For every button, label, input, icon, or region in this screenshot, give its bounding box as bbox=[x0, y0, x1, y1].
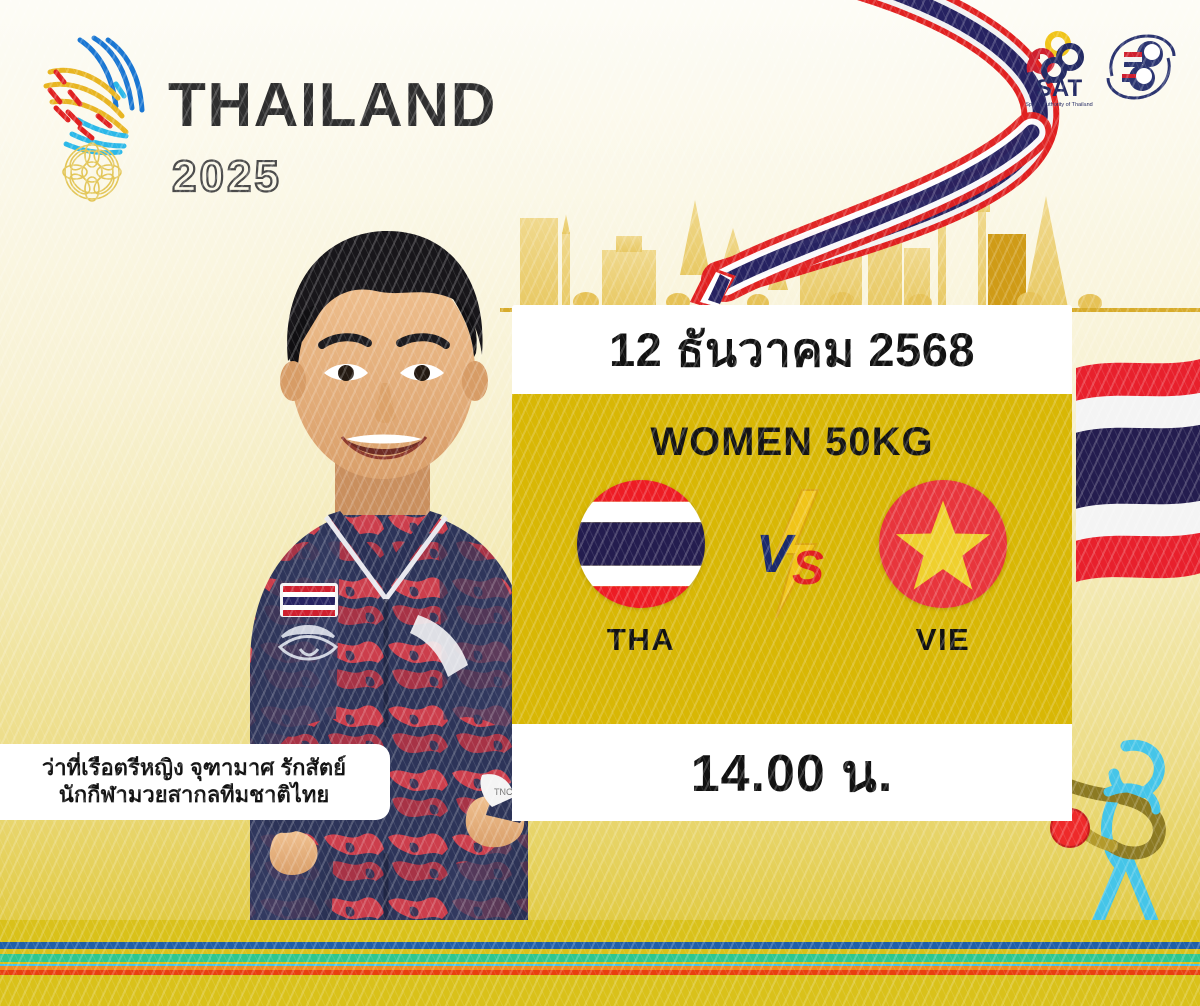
athlete-role: นักกีฬามวยสากลทีมชาติไทย bbox=[59, 782, 329, 809]
event-poster: THAILAND 2025 SAT Sports Authority of Th… bbox=[0, 0, 1200, 1006]
event-time: 14.00 น. bbox=[691, 731, 894, 814]
event-date: 12 ธันวาคม 2568 bbox=[609, 312, 975, 387]
teal-stripe bbox=[0, 954, 1200, 962]
blue-stripe bbox=[0, 942, 1200, 949]
team-tha: THA bbox=[556, 480, 726, 658]
svg-text:Sports Authority of Thailand: Sports Authority of Thailand bbox=[1025, 102, 1092, 108]
gold-panel: WOMEN 50KG THA bbox=[512, 394, 1072, 724]
thai-waving-flag bbox=[1072, 342, 1200, 602]
matchup: THA V S VIE bbox=[512, 480, 1072, 680]
svg-text:SAT: SAT bbox=[1036, 75, 1083, 102]
time-bar: 14.00 น. bbox=[512, 724, 1072, 821]
vs-badge: V S bbox=[746, 484, 838, 624]
weight-class: WOMEN 50KG bbox=[512, 420, 1072, 465]
date-bar: 12 ธันวาคม 2568 bbox=[512, 305, 1072, 394]
games-wordmark: THAILAND bbox=[168, 70, 497, 141]
red-stripe bbox=[0, 970, 1200, 975]
svg-text:S: S bbox=[792, 542, 824, 595]
svg-text:V: V bbox=[756, 524, 796, 584]
vietnam-flag-circle bbox=[879, 480, 1007, 608]
team-code-tha: THA bbox=[556, 622, 726, 658]
bottom-stripe-band bbox=[0, 920, 1200, 1006]
thailand-flag-circle bbox=[577, 480, 705, 608]
sat-logo: SAT Sports Authority of Thailand bbox=[1022, 28, 1096, 112]
athlete-name: ว่าที่เรือตรีหญิง จุฑามาศ รักสัตย์ bbox=[42, 755, 346, 782]
team-vie: VIE bbox=[858, 480, 1028, 658]
national-olympic-committee-logo bbox=[1102, 28, 1178, 106]
team-code-vie: VIE bbox=[858, 622, 1028, 658]
svg-text:TNC: TNC bbox=[494, 787, 513, 797]
thailand-2025-games-logo bbox=[28, 24, 158, 204]
athlete-caption: ว่าที่เรือตรีหญิง จุฑามาศ รักสัตย์ นักกี… bbox=[0, 744, 390, 820]
match-info-card: 12 ธันวาคม 2568 WOMEN 50KG THA bbox=[512, 305, 1072, 821]
